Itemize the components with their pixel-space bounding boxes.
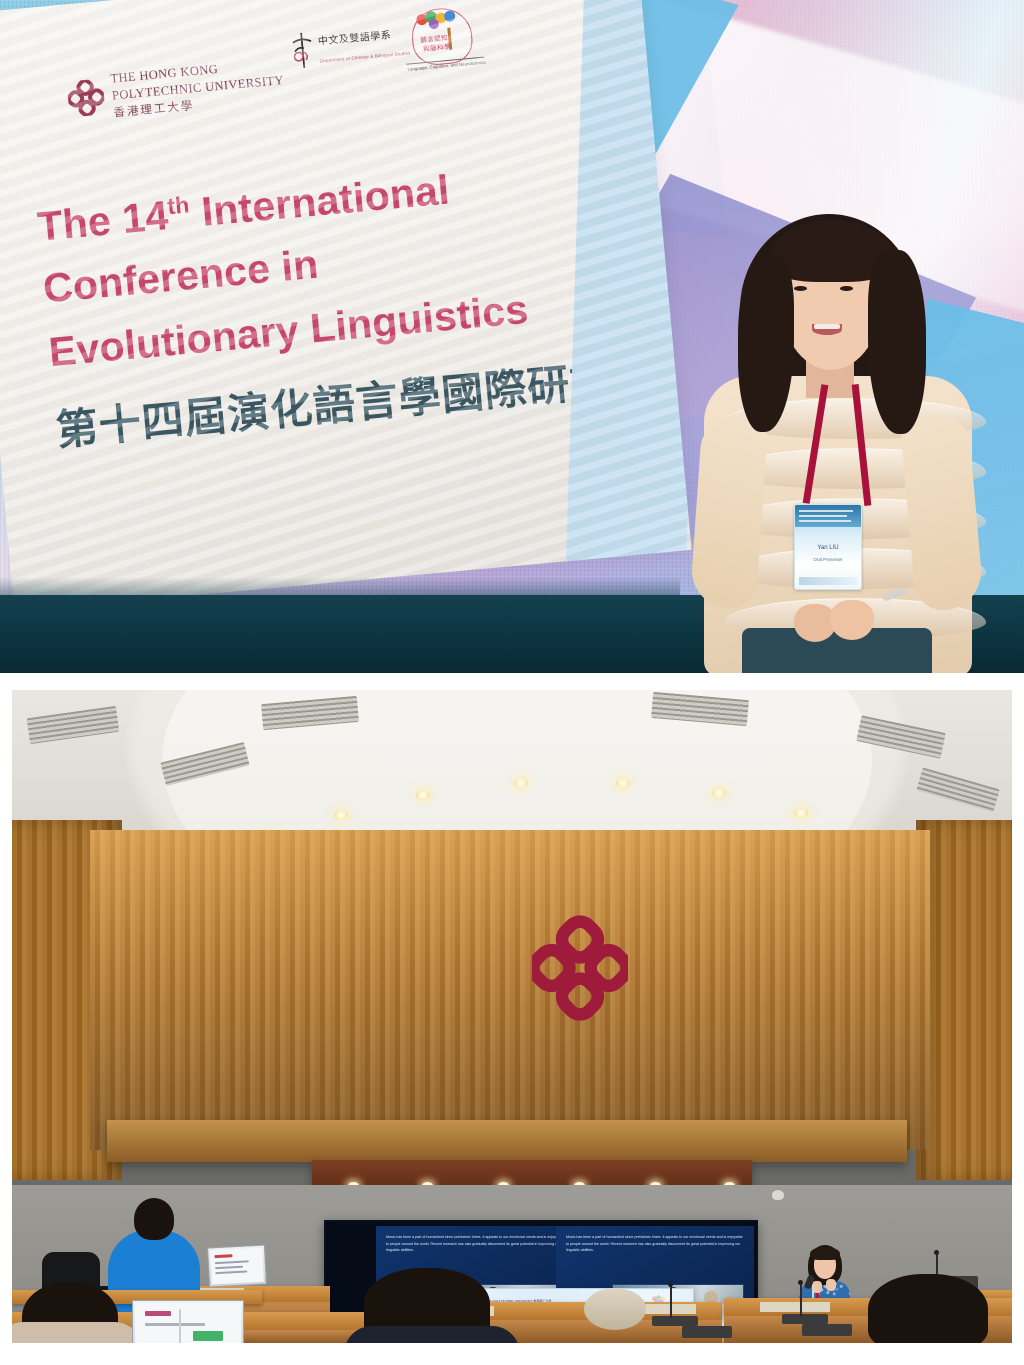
banner-title-chinese: 第十四屆演化語言學國際研討會	[53, 343, 658, 458]
foreground-mic-unit	[682, 1326, 732, 1338]
polyu-chinese: 香港理工大學	[113, 100, 195, 119]
audience-laptop-2	[132, 1300, 244, 1343]
ceiling-camera-icon	[772, 1190, 784, 1200]
audience-laptop-1	[207, 1245, 267, 1288]
lcn-stem-icon	[447, 28, 452, 50]
side-console-mic-tip	[934, 1250, 939, 1255]
slide-text-right: Music has been a part of humankind since…	[566, 1234, 744, 1254]
top-photo-conference-backdrop: THE HONG KONG POLYTECHNIC UNIVERSITY 香港理…	[0, 0, 1024, 673]
presenter-figure: Yan LIU Oral Presenter	[686, 208, 986, 673]
laptop-2-screen	[135, 1303, 241, 1343]
polyu-emblem-icon	[67, 79, 106, 118]
ceiling-downlight-8	[794, 808, 808, 818]
banner-title-line3: Evolutionary Linguistics	[47, 286, 530, 376]
banner-title-line1: The 14th International	[36, 166, 452, 250]
lcn-divider	[406, 57, 484, 65]
lcn-logo: 語言認知 與腦科學 Language, Cognition, and Neuro…	[402, 5, 488, 82]
bench-mic-stem-b	[670, 1286, 672, 1318]
ceiling-downlight-5	[514, 778, 528, 788]
presenter-teeth	[814, 324, 840, 329]
bottom-margin	[0, 1343, 1024, 1365]
banner-title-ordinal-suffix: th	[166, 191, 190, 219]
cbs-logo: 中文及雙語學系 Department of Chinese & Bilingua…	[288, 21, 411, 72]
right-margin	[1012, 690, 1024, 1343]
lcn-head-outline-icon	[410, 6, 475, 67]
bench-mic-unit-c	[782, 1314, 828, 1324]
ceiling-downlight-3	[334, 810, 348, 820]
foreground-shoulder-left	[12, 1322, 144, 1343]
bottom-photo-lecture-theatre: Music has been a part of humankind since…	[12, 690, 1012, 1343]
ceiling-downlight-7	[712, 788, 726, 798]
laptop-1-screen	[210, 1248, 264, 1285]
wood-ledge-shelf	[107, 1120, 907, 1162]
presenter-left-eye	[794, 286, 807, 291]
photo-divider-gap	[0, 673, 1024, 690]
polyu-logo-text: THE HONG KONG POLYTECHNIC UNIVERSITY 香港理…	[110, 55, 286, 121]
bench-mic-unit-b	[652, 1316, 698, 1326]
bench-panel-c	[760, 1302, 830, 1312]
presenter-right-hand	[830, 600, 874, 640]
conference-banner-panel: THE HONG KONG POLYTECHNIC UNIVERSITY 香港理…	[0, 0, 692, 612]
wood-wall-shading	[90, 830, 930, 1150]
banner-title-line1-pre: The 14	[36, 192, 171, 250]
slide-text-left: Music has been a part of humankind since…	[386, 1234, 564, 1254]
lcn-caption: Language, Cognition, and Neuroscience	[407, 59, 487, 71]
side-wall-right	[916, 820, 1012, 1180]
foreground-shoulder-center	[344, 1326, 520, 1343]
photo-collage-page: THE HONG KONG POLYTECHNIC UNIVERSITY 香港理…	[0, 0, 1024, 1365]
speaker-right-hand	[826, 1279, 836, 1291]
banner-title-line2: Conference in	[41, 241, 320, 313]
cbs-brush-icon	[288, 30, 318, 72]
presenter-left-sleeve	[689, 416, 768, 610]
audience-person-blue-head	[134, 1198, 174, 1240]
cbs-chinese: 中文及雙語學系	[318, 30, 392, 48]
bench-mic-stem-c	[800, 1284, 802, 1316]
front-wood-wall	[90, 830, 930, 1150]
speaker-fringe	[810, 1247, 840, 1260]
polyu-logo: THE HONG KONG POLYTECHNIC UNIVERSITY 香港理…	[66, 55, 286, 125]
badge-attendee-role: Oral Presenter	[795, 557, 861, 562]
ceiling-downlight-6	[616, 778, 630, 788]
lcn-brain-blobs-icon	[416, 9, 464, 33]
badge-attendee-name: Yan LIU	[795, 545, 861, 551]
ceiling-downlight-4	[416, 790, 430, 800]
polyu-english-line1: THE HONG KONG	[110, 62, 219, 86]
badge-footer-logos	[799, 577, 857, 585]
audience-hat	[584, 1288, 646, 1330]
lcn-chinese-line2: 與腦科學	[423, 41, 452, 53]
banner-title-line1-post: International	[188, 166, 451, 235]
left-margin	[0, 690, 12, 1343]
polyu-emblem-wall-icon	[532, 908, 628, 1028]
cbs-english: Department of Chinese & Bilingual Studie…	[320, 50, 411, 63]
cbs-logo-text: 中文及雙語學系 Department of Chinese & Bilingua…	[317, 24, 411, 67]
foreground-head-right	[868, 1274, 988, 1343]
bench-mic-tip-b	[668, 1282, 673, 1287]
foreground-mic-unit-2	[802, 1324, 852, 1336]
lcn-chinese-line1: 語言認知	[420, 32, 449, 44]
presenter-hair-right	[868, 250, 926, 434]
presenter-right-eye	[840, 286, 853, 291]
presenter-name-badge: Yan LIU Oral Presenter	[794, 504, 862, 590]
bench-mic-tip-c	[798, 1280, 803, 1285]
polyu-english-line2: POLYTECHNIC UNIVERSITY	[111, 73, 284, 103]
banner-logo-row: THE HONG KONG POLYTECHNIC UNIVERSITY 香港理…	[64, 2, 590, 135]
